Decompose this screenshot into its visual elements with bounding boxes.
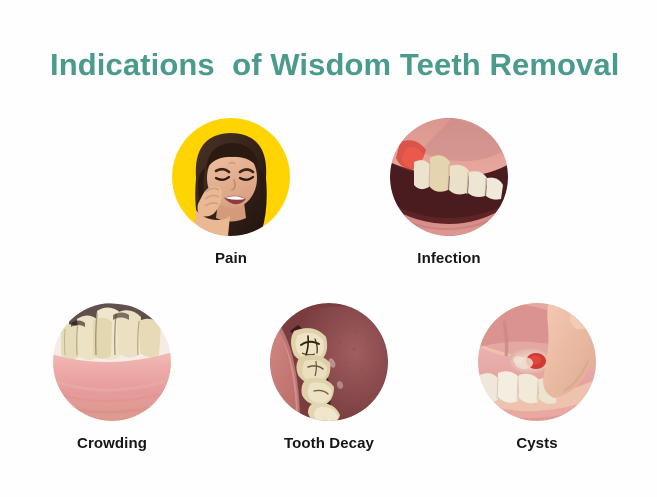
crowding-image	[53, 303, 171, 421]
tooth-decay-image	[270, 303, 388, 421]
indication-label-cysts: Cysts	[457, 435, 617, 452]
indication-card-infection: Infection	[369, 118, 529, 267]
indication-card-tooth-decay: Tooth Decay	[249, 303, 409, 452]
indication-label-tooth-decay: Tooth Decay	[249, 435, 409, 452]
indication-card-crowding: Crowding	[32, 303, 192, 452]
infection-image	[390, 118, 508, 236]
wisdom-teeth-indications-infographic: Indications of Wisdom Teeth Removal	[0, 0, 657, 497]
page-title: Indications of Wisdom Teeth Removal	[50, 47, 619, 83]
indication-label-pain: Pain	[151, 250, 311, 267]
indication-card-cysts: Cysts	[457, 303, 617, 452]
indication-label-infection: Infection	[369, 250, 529, 267]
pain-image	[172, 118, 290, 236]
cysts-image	[478, 303, 596, 421]
indication-card-pain: Pain	[151, 118, 311, 267]
indication-label-crowding: Crowding	[32, 435, 192, 452]
